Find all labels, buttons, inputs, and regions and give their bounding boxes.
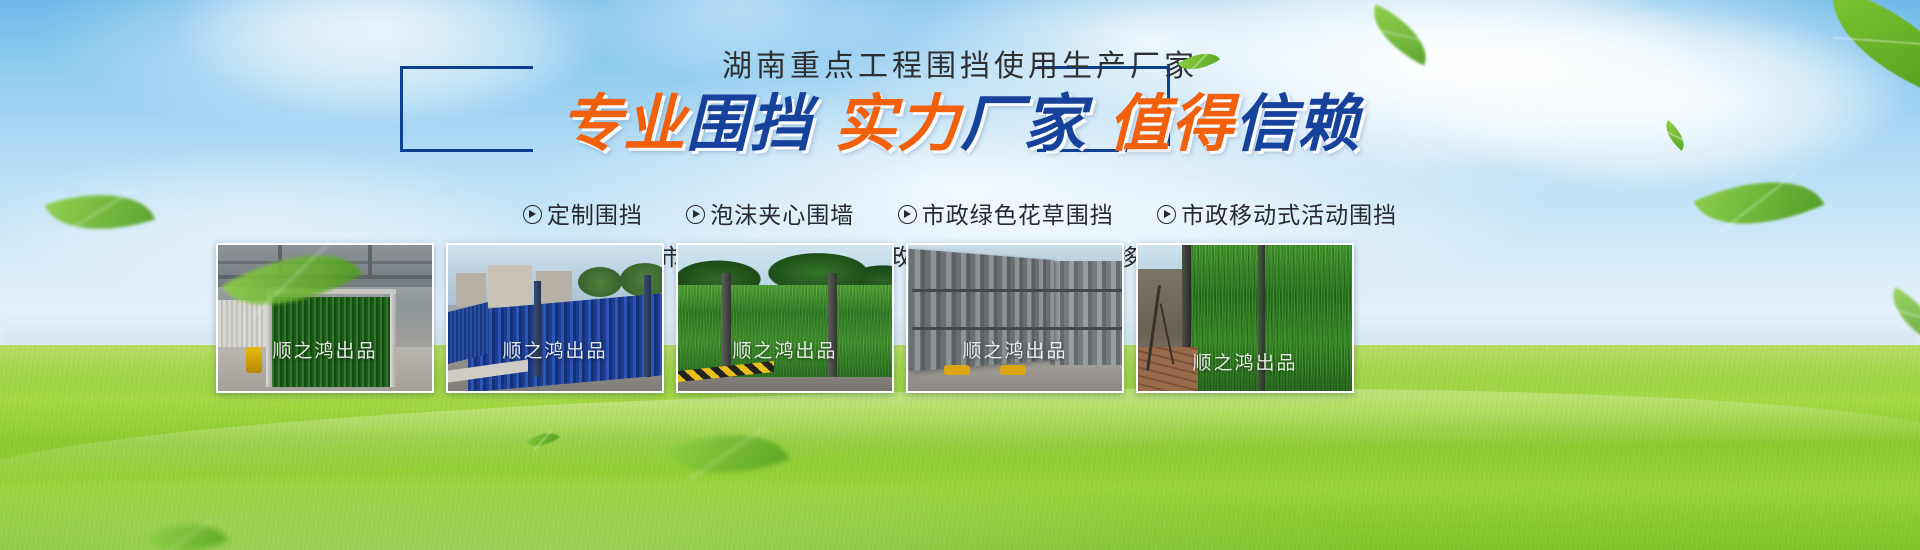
- photo-watermark: 顺之鸿出品: [1138, 348, 1352, 375]
- play-circle-icon: [898, 205, 917, 224]
- photo-scene-blue-corrugated-wall: [448, 245, 662, 391]
- product-photo-3[interactable]: 顺之鸿出品: [676, 243, 894, 393]
- product-photo-5[interactable]: 顺之鸿出品: [1136, 243, 1354, 393]
- headline-word-1: 专业: [560, 92, 686, 158]
- feature-item: 泡沫夹心围墙: [686, 200, 854, 228]
- feature-label: 定制围挡: [547, 202, 643, 228]
- promotional-banner: 湖南重点工程围挡使用生产厂家 专业围挡实力厂家值得信赖 定制围挡 泡沫夹心围墙 …: [0, 0, 1920, 550]
- headline-word-6: 信赖: [1234, 92, 1360, 158]
- feature-item: 市政绿色花草围挡: [898, 200, 1114, 228]
- headline-word-5: 值得: [1108, 92, 1234, 158]
- feature-label: 市政绿色花草围挡: [922, 202, 1114, 228]
- product-photo-4[interactable]: 顺之鸿出品: [906, 243, 1124, 393]
- headline-word-3: 实力: [834, 92, 960, 158]
- photo-watermark: 顺之鸿出品: [218, 336, 432, 363]
- photo-watermark: 顺之鸿出品: [678, 336, 892, 363]
- photo-scene-green-grass-print-fence: [678, 245, 892, 391]
- photo-watermark: 顺之鸿出品: [448, 336, 662, 363]
- feature-label: 市政移动式活动围挡: [1181, 202, 1397, 228]
- page-subtitle: 湖南重点工程围挡使用生产厂家: [0, 50, 1920, 84]
- page-title: 专业围挡实力厂家值得信赖: [0, 92, 1920, 158]
- feature-label: 泡沫夹心围墙: [710, 202, 854, 228]
- feature-item: 市政移动式活动围挡: [1157, 200, 1397, 228]
- headline-word-2: 围挡: [686, 92, 812, 158]
- product-photo-strip: 顺之鸿出品 顺之鸿出品: [216, 243, 1352, 393]
- play-circle-icon: [686, 205, 705, 224]
- photo-scene-grey-metal-gate: [908, 245, 1122, 391]
- photo-watermark: 顺之鸿出品: [908, 336, 1122, 363]
- headline-word-4: 厂家: [960, 92, 1086, 158]
- play-circle-icon: [523, 205, 542, 224]
- feature-item: 定制围挡: [523, 200, 643, 228]
- product-photo-2[interactable]: 顺之鸿出品: [446, 243, 664, 393]
- play-circle-icon: [1157, 205, 1176, 224]
- feature-list-row-1: 定制围挡 泡沫夹心围墙 市政绿色花草围挡 市政移动式活动围挡: [0, 200, 1920, 228]
